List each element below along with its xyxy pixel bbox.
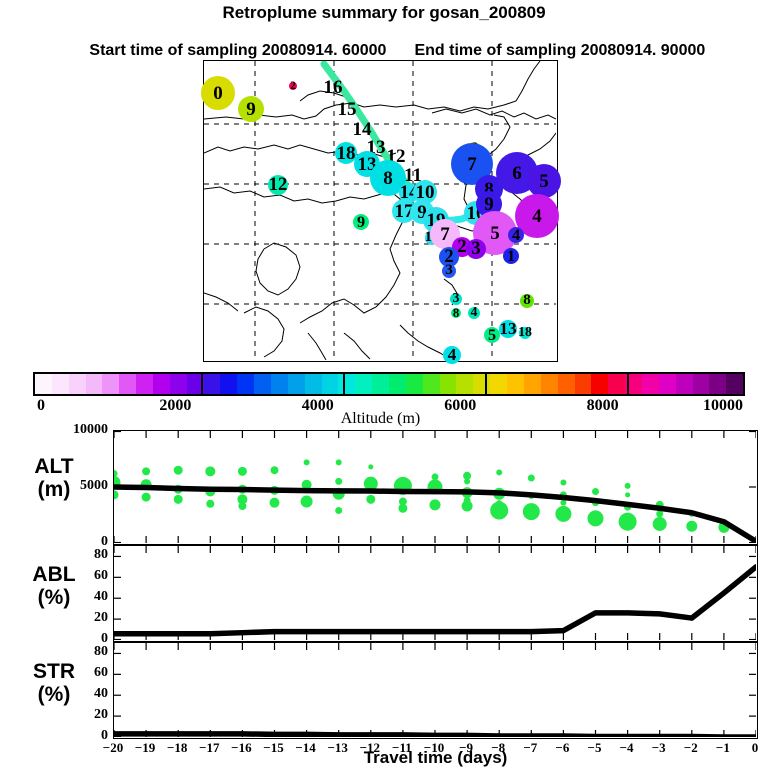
abl-plot-graphics [114,546,756,640]
colorbar-band-36 [642,374,659,394]
colorbar-tick-8000: 8000 [587,397,619,415]
colorbar-band-2 [69,374,86,394]
map-marker-label: 8 [453,307,459,320]
colorbar-tick-2000: 2000 [159,397,191,415]
colorbar-band-41 [726,374,743,394]
ytick-label: 5000 [80,478,108,494]
map-marker-label: 6 [512,164,522,183]
str-plot-graphics [114,643,756,737]
colorbar-divider [201,372,203,396]
ytick-label: 20 [94,610,108,626]
map-marker-39[interactable]: 8 [520,294,534,308]
colorbar-band-22 [406,374,423,394]
colorbar-band-26 [473,374,490,394]
abl-series-line [114,567,756,634]
alt-scatter-point [464,478,470,484]
colorbar-band-19 [355,374,372,394]
colorbar-band-16 [305,374,322,394]
colorbar-tick-10000: 10000 [703,397,743,415]
alt-scatter-point [462,501,473,512]
alt-scatter-point [528,475,535,482]
ytick-label: 40 [94,686,108,702]
colorbar-band-7 [153,374,170,394]
map-marker-label: 1 [507,248,515,264]
alt-scatter-points [114,459,756,543]
colorbar-band-37 [659,374,676,394]
alt-scatter-point [496,469,502,475]
alt-label-line1: ALT [4,455,104,478]
colorbar-divider [343,372,345,396]
colorbar-band-38 [676,374,693,394]
alt-scatter-point [114,470,118,477]
alt-plot-panel[interactable] [113,430,758,545]
colorbar-band-4 [102,374,119,394]
str-label-line1: STR [4,660,104,683]
map-marker-38[interactable]: 4 [468,307,480,319]
ytick-label: 80 [94,644,108,660]
colorbar-band-25 [456,374,473,394]
map-marker-label: 4 [448,346,457,363]
map-marker-label: 3 [471,240,480,259]
alt-scatter-point [335,507,342,514]
alt-scatter-point [206,500,214,508]
map-marker-label: 13 [499,320,516,337]
colorbar-band-11 [220,374,237,394]
alt-scatter-point [366,495,375,504]
alt-scatter-point [653,517,667,531]
colorbar-band-24 [440,374,457,394]
colorbar-band-6 [136,374,153,394]
colorbar-band-34 [608,374,625,394]
map-marker-label: 9 [246,100,256,119]
map-marker-42[interactable]: 18 [519,327,531,339]
colorbar-band-10 [204,374,221,394]
str-tick-marks [114,643,756,737]
str-axis-label: STR (%) [4,660,104,706]
abl-tick-marks [114,546,756,640]
str-series-line [114,734,756,737]
alt-scatter-point [336,459,342,465]
str-ytick-marks [114,653,756,736]
abl-label-line1: ABL [4,563,104,586]
colorbar-band-28 [507,374,524,394]
colorbar-band-30 [541,374,558,394]
map-marker-label: 12 [269,176,288,195]
str-label-line2: (%) [4,683,104,706]
colorbar-band-5 [119,374,136,394]
xaxis-title: Travel time (days) [113,748,758,768]
alt-scatter-point [523,503,540,520]
alt-scatter-point [560,500,566,506]
colorbar-tick-0: 0 [37,397,45,415]
map-marker-36[interactable]: 3 [450,293,462,305]
end-time-label: End time of sampling 20080914. 90000 [414,42,705,59]
map-marker-25[interactable]: 5 [527,164,561,198]
alt-scatter-point [271,466,279,474]
map-marker-label: 7 [440,225,450,244]
map-marker-label: 8 [523,293,531,308]
colorbar-band-15 [288,374,305,394]
map-marker-43[interactable]: 4 [443,346,461,364]
colorbar-band-18 [338,374,355,394]
alt-scatter-point [301,496,313,508]
map-marker-label: 7 [467,155,477,174]
abl-label-line2: (%) [4,586,104,609]
map-marker-40[interactable]: 5 [484,327,500,343]
alt-scatter-point [588,510,604,526]
map-marker-label: 5 [490,224,500,243]
alt-scatter-point [619,513,637,531]
map-marker-0[interactable]: 0 [201,76,235,110]
map-marker-label: 5 [539,172,549,191]
alt-scatter-point [656,510,663,517]
map-marker-label: 0 [213,84,223,103]
colorbar-band-32 [575,374,592,394]
ytick-label: 80 [94,547,108,563]
figure-canvas: Retroplume summary for gosan_200809 Star… [0,0,768,768]
alt-scatter-point [335,478,342,485]
alt-scatter-point [304,459,310,465]
map-marker-label: 3 [445,263,453,278]
map-marker-11[interactable]: 12 [268,175,288,195]
alt-scatter-point [368,464,373,469]
colorbar-band-3 [86,374,103,394]
colorbar[interactable]: 0200040006000800010000 [33,372,745,396]
colorbar-band-39 [693,374,710,394]
colorbar-band-17 [322,374,339,394]
ytick-label: 60 [94,568,108,584]
abl-axis-label: ABL (%) [4,563,104,609]
alt-scatter-point [592,488,599,495]
colorbar-band-12 [237,374,254,394]
map-marker-label: 3 [453,292,460,306]
colorbar-band-13 [254,374,271,394]
map-marker-37[interactable]: 8 [451,308,461,318]
page-title: Retroplume summary for gosan_200809 [0,3,768,22]
abl-ytick-marks [114,556,756,639]
ytick-label: 40 [94,589,108,605]
ytick-label: 20 [94,707,108,723]
map-marker-35[interactable]: 3 [442,264,456,278]
start-time-label: Start time of sampling 20080914. 60000 [89,42,386,59]
ytick-label: 10000 [73,422,108,438]
alt-scatter-point [490,502,508,520]
map-marker-32[interactable]: 3 [466,239,486,259]
map-marker-label: 5 [488,327,496,343]
colorbar-divider [485,372,487,396]
map-marker-label: 4 [471,306,478,320]
map-marker-label: 9 [357,214,365,230]
map-marker-label: 18 [337,144,356,163]
alt-plot-graphics [114,431,756,543]
alt-scatter-point [238,502,246,510]
map-marker-33[interactable]: 1 [503,248,519,264]
colorbar-band-33 [591,374,608,394]
map-marker-1[interactable]: 9 [238,96,264,122]
colorbar-band-40 [709,374,726,394]
alt-scatter-point [205,466,215,476]
alt-scatter-point [238,467,247,476]
alt-scatter-point [686,521,697,532]
colorbar-title: Altitude (m) [203,410,558,428]
colorbar-band-1 [52,374,69,394]
alt-scatter-point [625,492,630,497]
map-marker-17[interactable]: 9 [353,214,369,230]
colorbar-strip [33,372,745,396]
map-marker-label: 4 [532,207,542,226]
map-panel[interactable]: 0921615141312111813128141017991910678965… [203,60,558,362]
colorbar-band-14 [271,374,288,394]
map-marker-30[interactable]: 4 [508,227,524,243]
map-marker-2[interactable]: 2 [289,82,297,90]
abl-plot-panel[interactable] [113,545,758,642]
alt-scatter-point [555,506,571,522]
alt-scatter-point [560,480,566,486]
map-marker-label: 4 [512,227,520,243]
alt-scatter-point [625,483,631,489]
colorbar-band-29 [524,374,541,394]
colorbar-band-23 [423,374,440,394]
alt-scatter-point [114,490,119,499]
str-ytick-labels: 020406080 [0,0,108,1]
map-marker-41[interactable]: 13 [499,320,517,338]
alt-scatter-point [174,495,183,504]
colorbar-band-31 [558,374,575,394]
ytick-label: 60 [94,665,108,681]
colorbar-band-8 [170,374,187,394]
alt-scatter-point [430,499,441,510]
alt-scatter-point [142,467,150,475]
colorbar-band-20 [372,374,389,394]
colorbar-band-21 [389,374,406,394]
alt-scatter-point [270,498,280,508]
alt-scatter-point [174,466,183,475]
map-marker-label: 10 [416,183,435,202]
alt-scatter-point [142,493,151,502]
map-marker-label: 8 [383,169,393,188]
colorbar-divider [627,372,629,396]
colorbar-band-27 [490,374,507,394]
colorbar-band-0 [35,374,52,394]
str-plot-panel[interactable] [113,642,758,739]
alt-scatter-point [432,473,439,480]
alt-scatter-point [398,504,407,513]
